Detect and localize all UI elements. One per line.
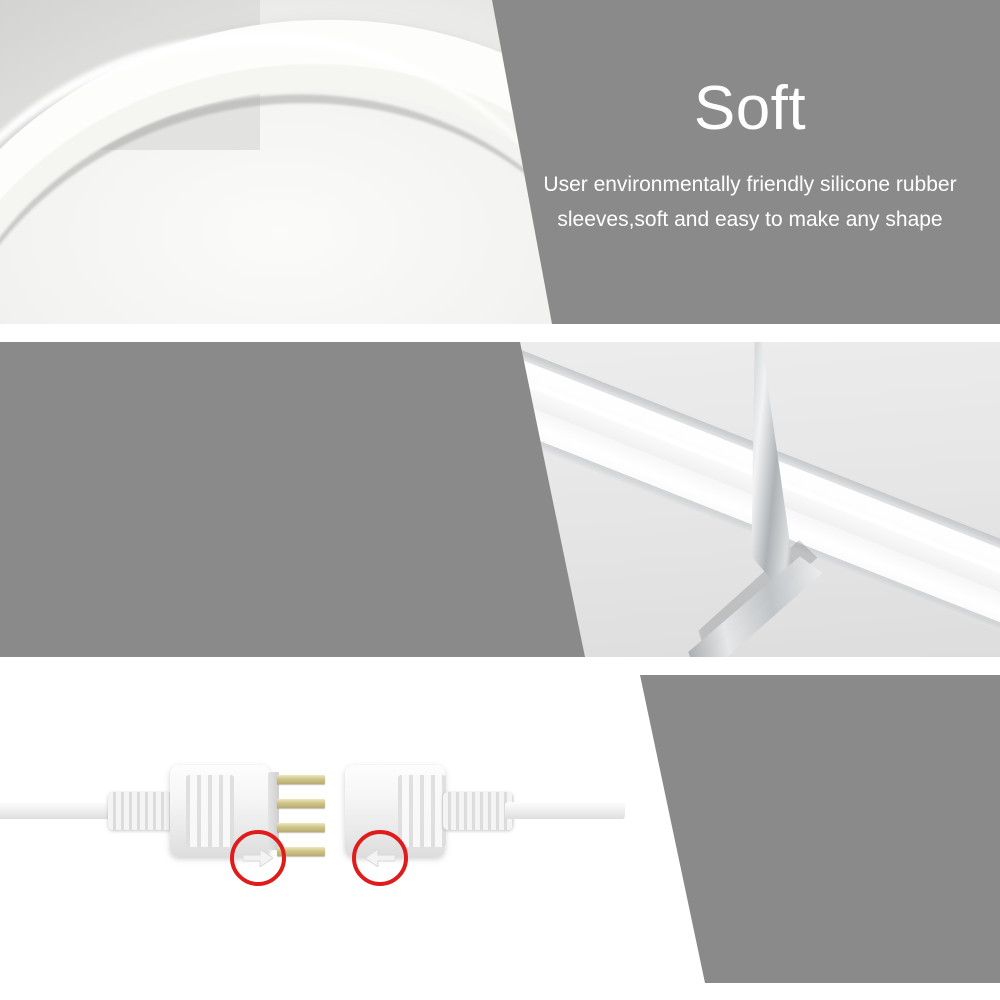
male-arrow-marker-circle	[230, 830, 286, 886]
right-strain-relief	[443, 792, 513, 830]
soft-body-line-1: User environmentally friendly silicone r…	[500, 168, 1000, 203]
male-pin-1	[277, 775, 325, 784]
soft-heading: Soft	[500, 78, 1000, 140]
panel-soft: Soft User environmentally friendly silic…	[0, 0, 1000, 324]
male-pin-2	[277, 799, 325, 808]
male-pin-3	[277, 823, 325, 832]
soft-text-block: Soft User environmentally friendly silic…	[500, 78, 1000, 237]
right-cable	[505, 802, 625, 819]
arrow-right-icon	[243, 849, 273, 867]
left-strain-relief	[108, 792, 178, 830]
soft-body-line-2: sleeves,soft and easy to make any shape	[500, 203, 1000, 238]
male-connector-ribs	[186, 775, 234, 847]
infographic-page: Soft User environmentally friendly silic…	[0, 0, 1000, 1000]
cut-gray-wedge	[0, 342, 600, 657]
panel-connection: Connection Arrow to arrow	[0, 675, 1000, 983]
female-arrow-marker-circle	[352, 830, 408, 886]
female-connector-ribs	[398, 775, 446, 847]
panel-cut: Cut Can be cropped,three beads are cut o…	[0, 342, 1000, 657]
arrow-left-icon	[365, 849, 395, 867]
left-cable	[0, 802, 120, 819]
